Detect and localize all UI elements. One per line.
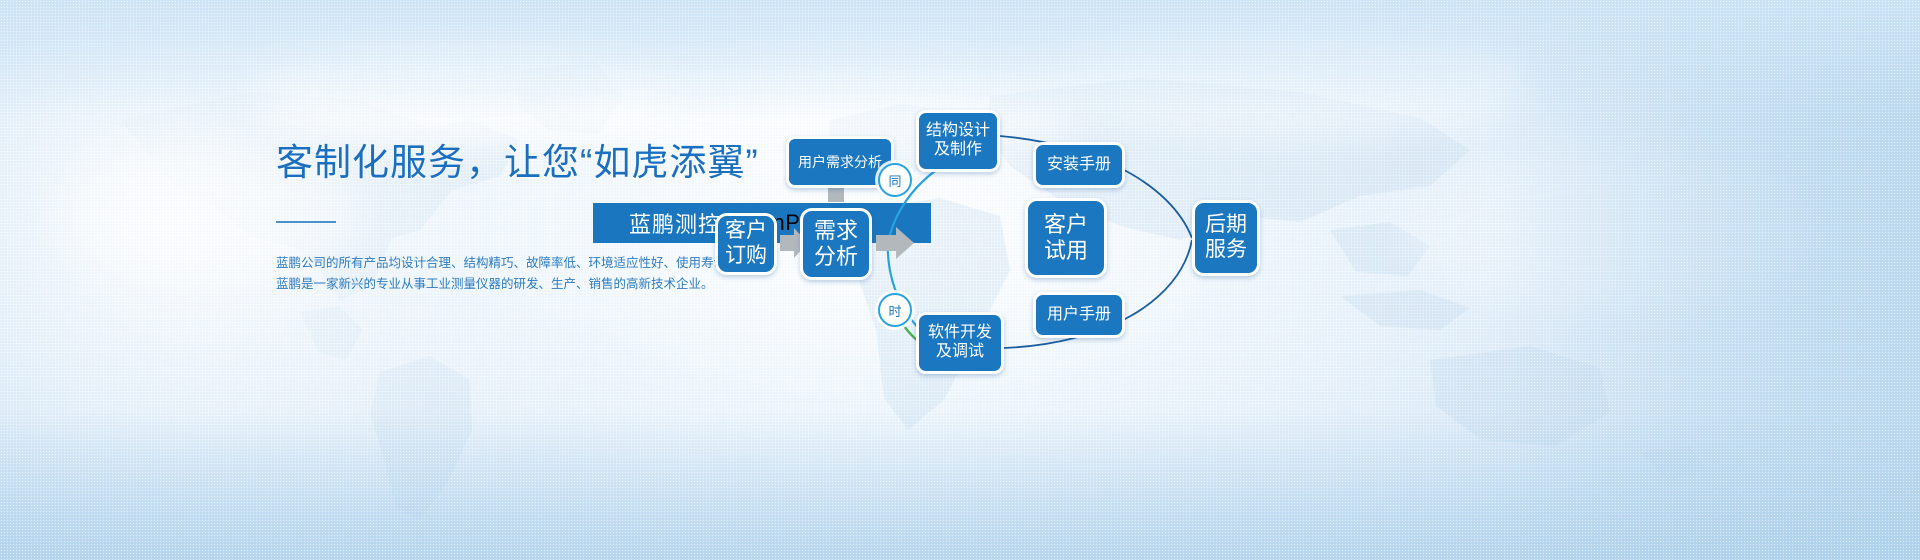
flow-badge-shi: 时: [878, 293, 912, 327]
description-line-1: 蓝鹏公司的所有产品均设计合理、结构精巧、故障率低、环境适应性好、使用寿命长。: [276, 253, 686, 274]
flow-node-label: 客户订购: [725, 219, 767, 269]
flow-badge-label: 同: [888, 171, 901, 190]
flow-node-label: 用户需求分析: [798, 154, 882, 171]
page-title: 客制化服务，让您“如虎添翼”: [276, 139, 759, 187]
flow-node-label: 软件开发及调试: [928, 324, 992, 362]
description-text: 蓝鹏公司的所有产品均设计合理、结构精巧、故障率低、环境适应性好、使用寿命长。 蓝…: [276, 253, 686, 295]
flow-node-user-manual[interactable]: 用户手册: [1033, 292, 1125, 338]
flow-node-installation-manual[interactable]: 安装手册: [1033, 142, 1125, 188]
brand-rule: [276, 221, 336, 223]
flow-node-label: 需求分析: [814, 218, 858, 270]
flow-node-software-development[interactable]: 软件开发及调试: [916, 312, 1004, 374]
flow-node-label: 结构设计及制作: [926, 122, 990, 160]
flow-node-customer-order[interactable]: 客户订购: [715, 213, 777, 275]
banner-stage: 客制化服务，让您“如虎添翼” 蓝鹏测控 LanPeng 蓝鹏公司的所有产品均设计…: [0, 0, 1920, 560]
flow-badge-tong: 同: [878, 163, 912, 197]
flow-badge-label: 时: [888, 301, 901, 320]
flow-node-customer-trial[interactable]: 客户试用: [1025, 198, 1107, 278]
flow-node-label: 后期服务: [1205, 213, 1247, 263]
flow-node-structural-design[interactable]: 结构设计及制作: [916, 110, 1000, 172]
process-flow-diagram: 用户需求分析 客户订购 需求分析 结构设计及制作 软件开发及调试 安装手册: [700, 90, 1920, 420]
description-line-2: 蓝鹏是一家新兴的专业从事工业测量仪器的研发、生产、销售的高新技术企业。: [276, 274, 686, 295]
brand-row: 蓝鹏测控 LanPeng: [276, 203, 676, 243]
flow-node-after-service[interactable]: 后期服务: [1192, 200, 1260, 276]
flow-node-label: 用户手册: [1047, 306, 1111, 325]
flow-node-label: 客户试用: [1044, 212, 1088, 264]
flow-node-label: 安装手册: [1047, 156, 1111, 175]
flow-node-demand-analysis[interactable]: 需求分析: [800, 208, 872, 280]
